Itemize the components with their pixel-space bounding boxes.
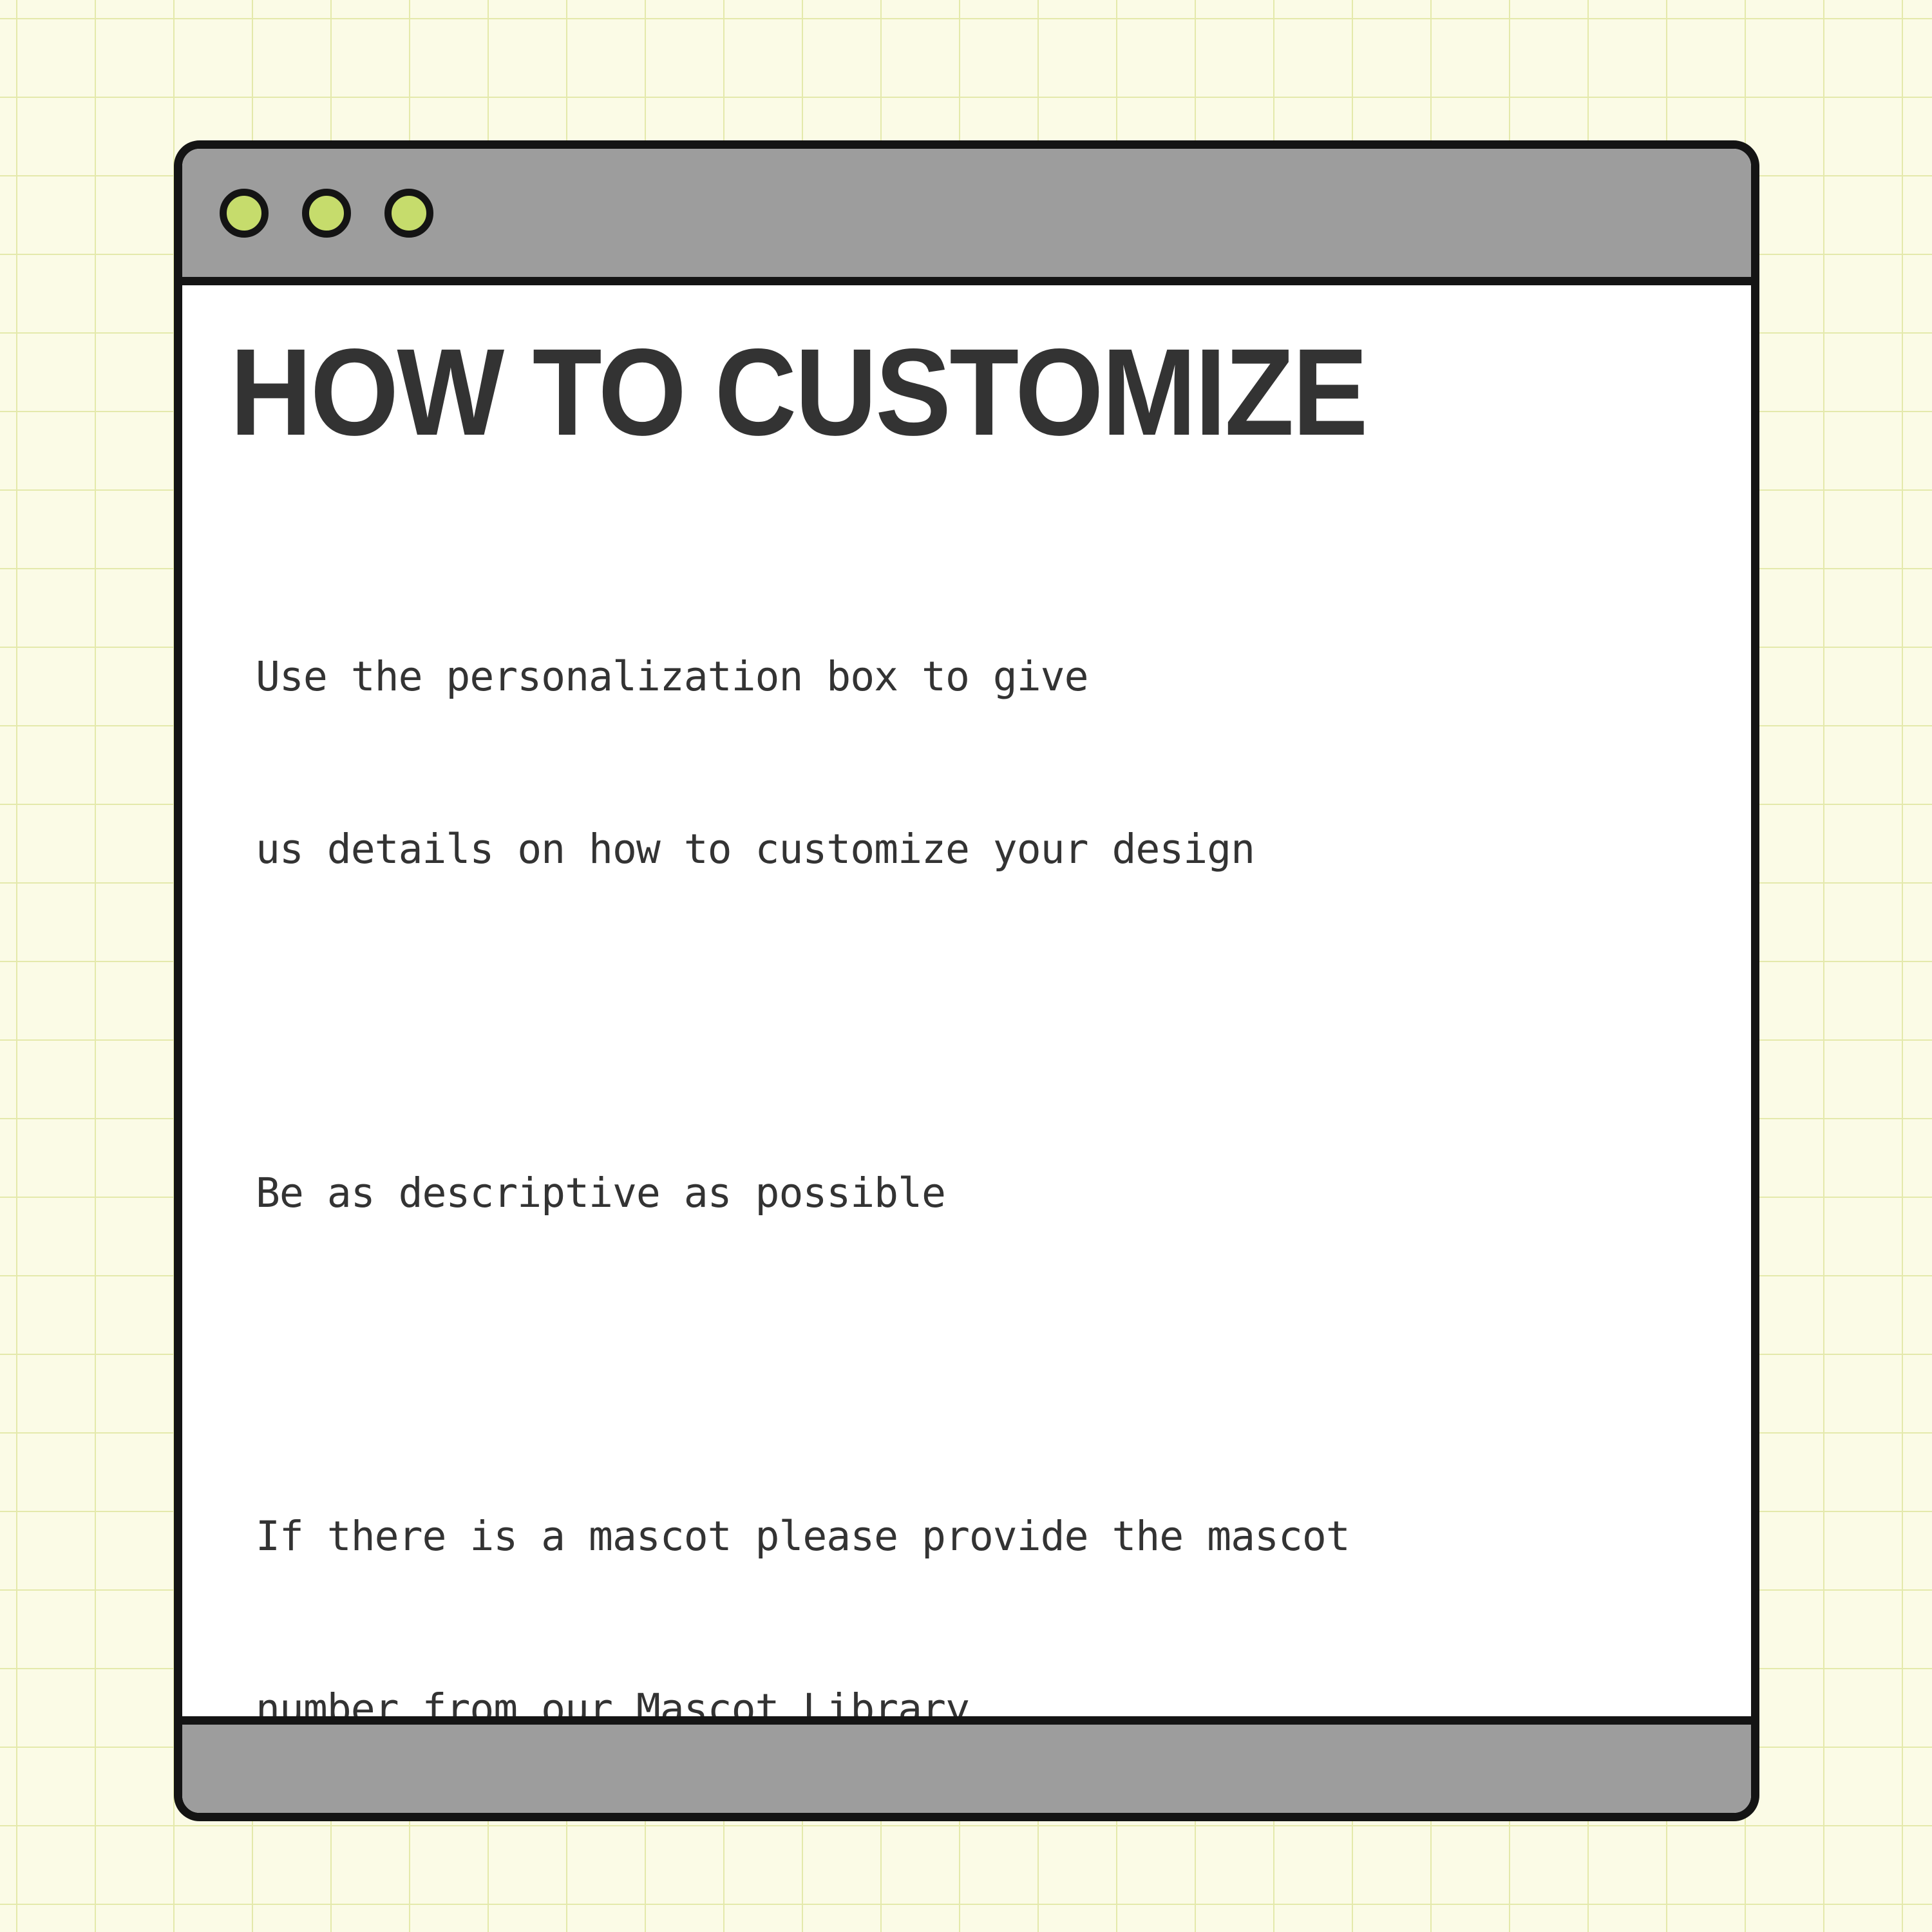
window-content: HOW TO CUSTOMIZE Use the personalization… <box>182 285 1751 1716</box>
page-title: HOW TO CUSTOMIZE <box>230 330 1594 454</box>
close-dot-icon[interactable] <box>220 189 269 238</box>
window-footerbar <box>182 1716 1751 1813</box>
instruction-line: us details on how to customize your desi… <box>256 820 1712 878</box>
instructions-list: Use the personalization box to give us d… <box>256 533 1712 1716</box>
instruction-paragraph-mascot-number: If there is a mascot please provide the … <box>256 1392 1712 1716</box>
instruction-line: Be as descriptive as possible <box>256 1164 1712 1222</box>
minimize-dot-icon[interactable] <box>302 189 351 238</box>
instruction-paragraph-be-descriptive: Be as descriptive as possible <box>256 1049 1712 1337</box>
maximize-dot-icon[interactable] <box>384 189 433 238</box>
instruction-line: If there is a mascot please provide the … <box>256 1508 1712 1565</box>
instruction-paragraph-personalization-box: Use the personalization box to give us d… <box>256 533 1712 994</box>
instruction-line: Use the personalization box to give <box>256 648 1712 705</box>
instruction-line: number from our Mascot Library <box>256 1680 1712 1716</box>
app-window: HOW TO CUSTOMIZE Use the personalization… <box>174 140 1759 1821</box>
window-titlebar[interactable] <box>182 149 1751 285</box>
